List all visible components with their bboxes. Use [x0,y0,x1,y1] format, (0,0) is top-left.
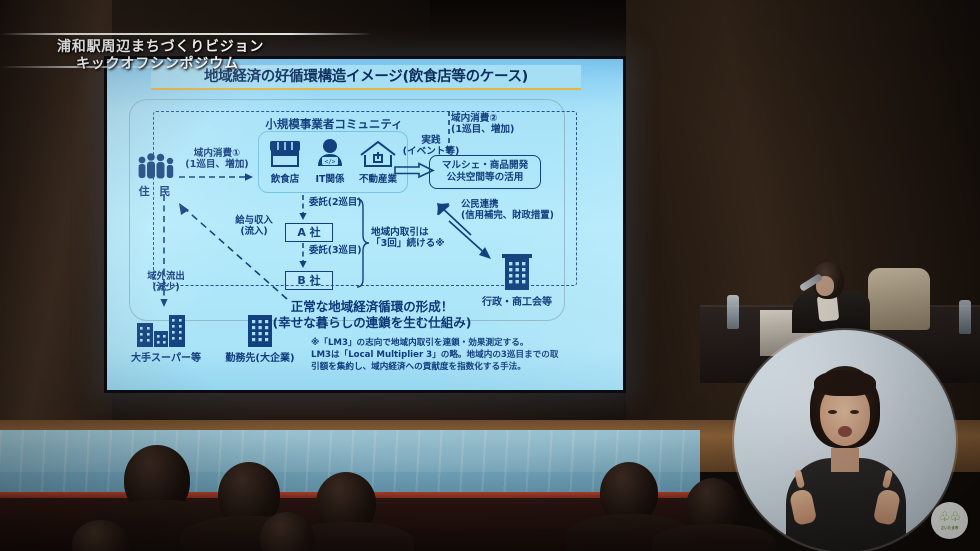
commission-3-label: 委託(3巡目) [309,245,362,256]
community-member-1: </> IT関係 [309,137,351,185]
arrow-commission-2 [298,195,308,221]
broadcaster-logo: ♧♧ さいたま市 [931,502,968,539]
broadcast-title-line2: キックオフシンポジウム [76,53,239,73]
title-band-line-top [0,33,372,35]
residents-group: 住 民 [133,151,179,199]
community-heading: 小規模事業者コミュニティ [245,116,423,132]
arrow-consumption-2 [443,111,455,155]
interpreter-eye [850,410,859,414]
outside-actor-0-label: 大手スーパー等 [123,349,209,364]
venue-photo: 地域経済の好循環構造イメージ(飲食店等のケース) 住 民 域内消費① [0,0,980,551]
water-bottle [727,295,739,329]
local-consumption-1-label: 域内消費① (1巡目、増加) [177,148,257,171]
storefront-icon [265,137,305,171]
ppp-label: 公民連携 (信用補完、財政措置) [461,199,554,221]
outside-actor-0: 大手スーパー等 [123,309,209,364]
outside-actor-1-label: 勤務先(大企業) [217,349,303,364]
city-buildings-icon [123,309,209,349]
residents-label: 住 民 [133,183,179,199]
lm3-footnote: ※「LM3」の志向で地域内取引を連鎖・効果測定する。 LM3は「Local Mu… [311,337,607,374]
commission-2-label: 委託(2巡目) [309,197,362,208]
logo-mark-icon: ♧♧ [939,511,960,524]
projection-screen: 地域経済の好循環構造イメージ(飲食店等のケース) 住 民 域内消費① [104,56,626,393]
interpreter-eye [828,410,837,414]
local-consumption-2-label: 域内消費② (1巡目、増加) [451,113,571,136]
conclusion-headline: 正常な地域経済循環の形成！ (幸せな暮らしの連鎖を生む仕組み) [247,299,497,332]
brace-local-trade [355,199,367,291]
people-group-icon [133,151,179,181]
outflow-label: 域外流出 (減少) [135,271,197,293]
water-bottle [959,300,971,334]
community-member-0: 飲食店 [265,137,305,185]
presentation-slide: 地域経済の好循環構造イメージ(飲食店等のケース) 住 民 域内消費① [107,59,623,390]
panel-chair [868,268,930,330]
sign-language-interpreter-overlay [734,330,956,551]
marche-box: マルシェ・商品開発 公共空間等の活用 [429,155,541,189]
arrow-commission-3 [298,243,308,269]
laptop-person-icon: </> [309,137,351,171]
interpreter-bangs [814,370,876,396]
arrow-residents-to-community [179,172,257,182]
svg-text:</>: </> [325,159,336,166]
audience-shoulders [652,524,776,551]
interpreter-mouth [838,426,852,437]
office-building-icon [481,253,553,293]
community-member-1-label: IT関係 [309,171,351,185]
logo-caption: さいたま市 [941,526,959,531]
interpreter-neck [831,448,859,472]
community-member-0-label: 飲食店 [265,171,305,185]
